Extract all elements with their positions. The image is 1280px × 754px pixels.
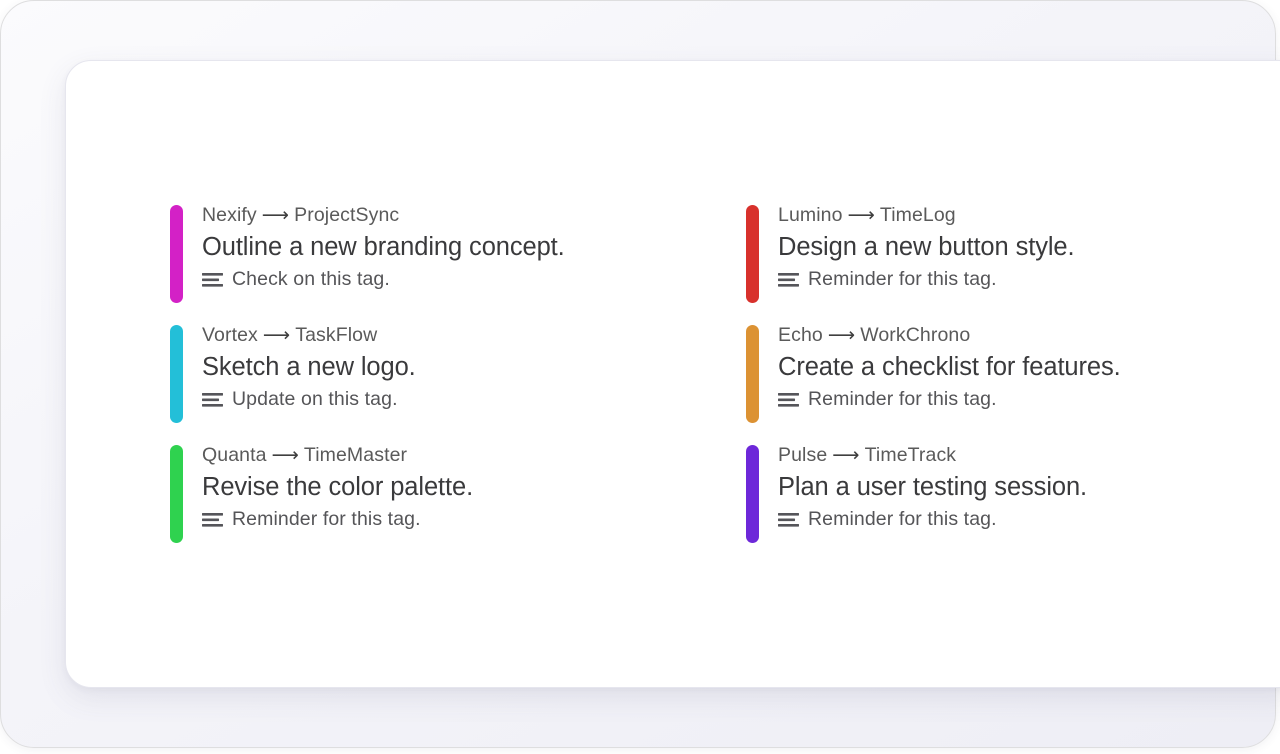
description-lines-icon [778,272,799,288]
tag-target-label: TimeMaster [304,444,407,466]
arrow-right-icon: ⟶ [257,202,294,229]
tag-target-label: TimeLog [880,204,956,226]
description-lines-icon [202,512,223,528]
tag-accent-bar [170,445,183,543]
tag-note-row: Check on this tag. [202,266,565,293]
arrow-right-icon: ⟶ [827,442,864,469]
tag-target-label: TimeTrack [865,444,957,466]
arrow-right-icon: ⟶ [267,442,304,469]
tag-title: Design a new button style. [778,230,1075,265]
tag-note-text: Reminder for this tag. [808,266,997,293]
tag-accent-bar [746,205,759,303]
tag-note-text: Check on this tag. [232,266,390,293]
tag-source-label: Pulse [778,444,827,466]
tag-note-row: Reminder for this tag. [778,266,1075,293]
arrow-right-icon: ⟶ [823,322,860,349]
tag-title: Sketch a new logo. [202,350,416,385]
tag-item[interactable]: Pulse⟶TimeTrackPlan a user testing sessi… [746,442,1250,562]
tag-body: Vortex⟶TaskFlowSketch a new logo.Update … [202,322,416,413]
tag-target-label: TaskFlow [295,324,377,346]
tag-title: Create a checklist for features. [778,350,1121,385]
tag-source-label: Lumino [778,204,843,226]
tag-item[interactable]: Nexify⟶ProjectSyncOutline a new branding… [170,202,746,322]
tag-title: Outline a new branding concept. [202,230,565,265]
tag-accent-bar [170,205,183,303]
tag-body: Pulse⟶TimeTrackPlan a user testing sessi… [778,442,1087,533]
tag-target-label: WorkChrono [860,324,970,346]
tag-title: Revise the color palette. [202,470,473,505]
tag-note-text: Reminder for this tag. [808,386,997,413]
tag-item[interactable]: Vortex⟶TaskFlowSketch a new logo.Update … [170,322,746,442]
tag-note-row: Update on this tag. [202,386,416,413]
tag-source-label: Nexify [202,204,257,226]
tag-title: Plan a user testing session. [778,470,1087,505]
tag-target-label: ProjectSync [294,204,399,226]
tag-source-target: Quanta⟶TimeMaster [202,442,473,469]
tag-source-target: Pulse⟶TimeTrack [778,442,1087,469]
tag-item[interactable]: Quanta⟶TimeMasterRevise the color palett… [170,442,746,562]
arrow-right-icon: ⟶ [843,202,880,229]
tag-body: Echo⟶WorkChronoCreate a checklist for fe… [778,322,1121,413]
outer-frame: Nexify⟶ProjectSyncOutline a new branding… [0,0,1276,748]
tag-body: Quanta⟶TimeMasterRevise the color palett… [202,442,473,533]
tag-item[interactable]: Echo⟶WorkChronoCreate a checklist for fe… [746,322,1250,442]
tag-item[interactable]: Lumino⟶TimeLogDesign a new button style.… [746,202,1250,322]
tag-source-label: Echo [778,324,823,346]
tag-body: Nexify⟶ProjectSyncOutline a new branding… [202,202,565,293]
tag-source-target: Vortex⟶TaskFlow [202,322,416,349]
tag-body: Lumino⟶TimeLogDesign a new button style.… [778,202,1075,293]
tag-grid: Nexify⟶ProjectSyncOutline a new branding… [170,202,1250,562]
description-lines-icon [202,392,223,408]
tag-source-target: Echo⟶WorkChrono [778,322,1121,349]
tag-accent-bar [746,325,759,423]
tag-note-text: Reminder for this tag. [232,506,421,533]
tag-note-row: Reminder for this tag. [778,386,1121,413]
description-lines-icon [778,392,799,408]
arrow-right-icon: ⟶ [258,322,295,349]
tag-list-card: Nexify⟶ProjectSyncOutline a new branding… [65,60,1280,688]
tag-note-row: Reminder for this tag. [202,506,473,533]
tag-source-target: Nexify⟶ProjectSync [202,202,565,229]
tag-accent-bar [746,445,759,543]
tag-note-text: Reminder for this tag. [808,506,997,533]
tag-note-row: Reminder for this tag. [778,506,1087,533]
tag-source-label: Quanta [202,444,267,466]
tag-accent-bar [170,325,183,423]
description-lines-icon [202,272,223,288]
description-lines-icon [778,512,799,528]
tag-note-text: Update on this tag. [232,386,398,413]
tag-source-label: Vortex [202,324,258,346]
tag-source-target: Lumino⟶TimeLog [778,202,1075,229]
